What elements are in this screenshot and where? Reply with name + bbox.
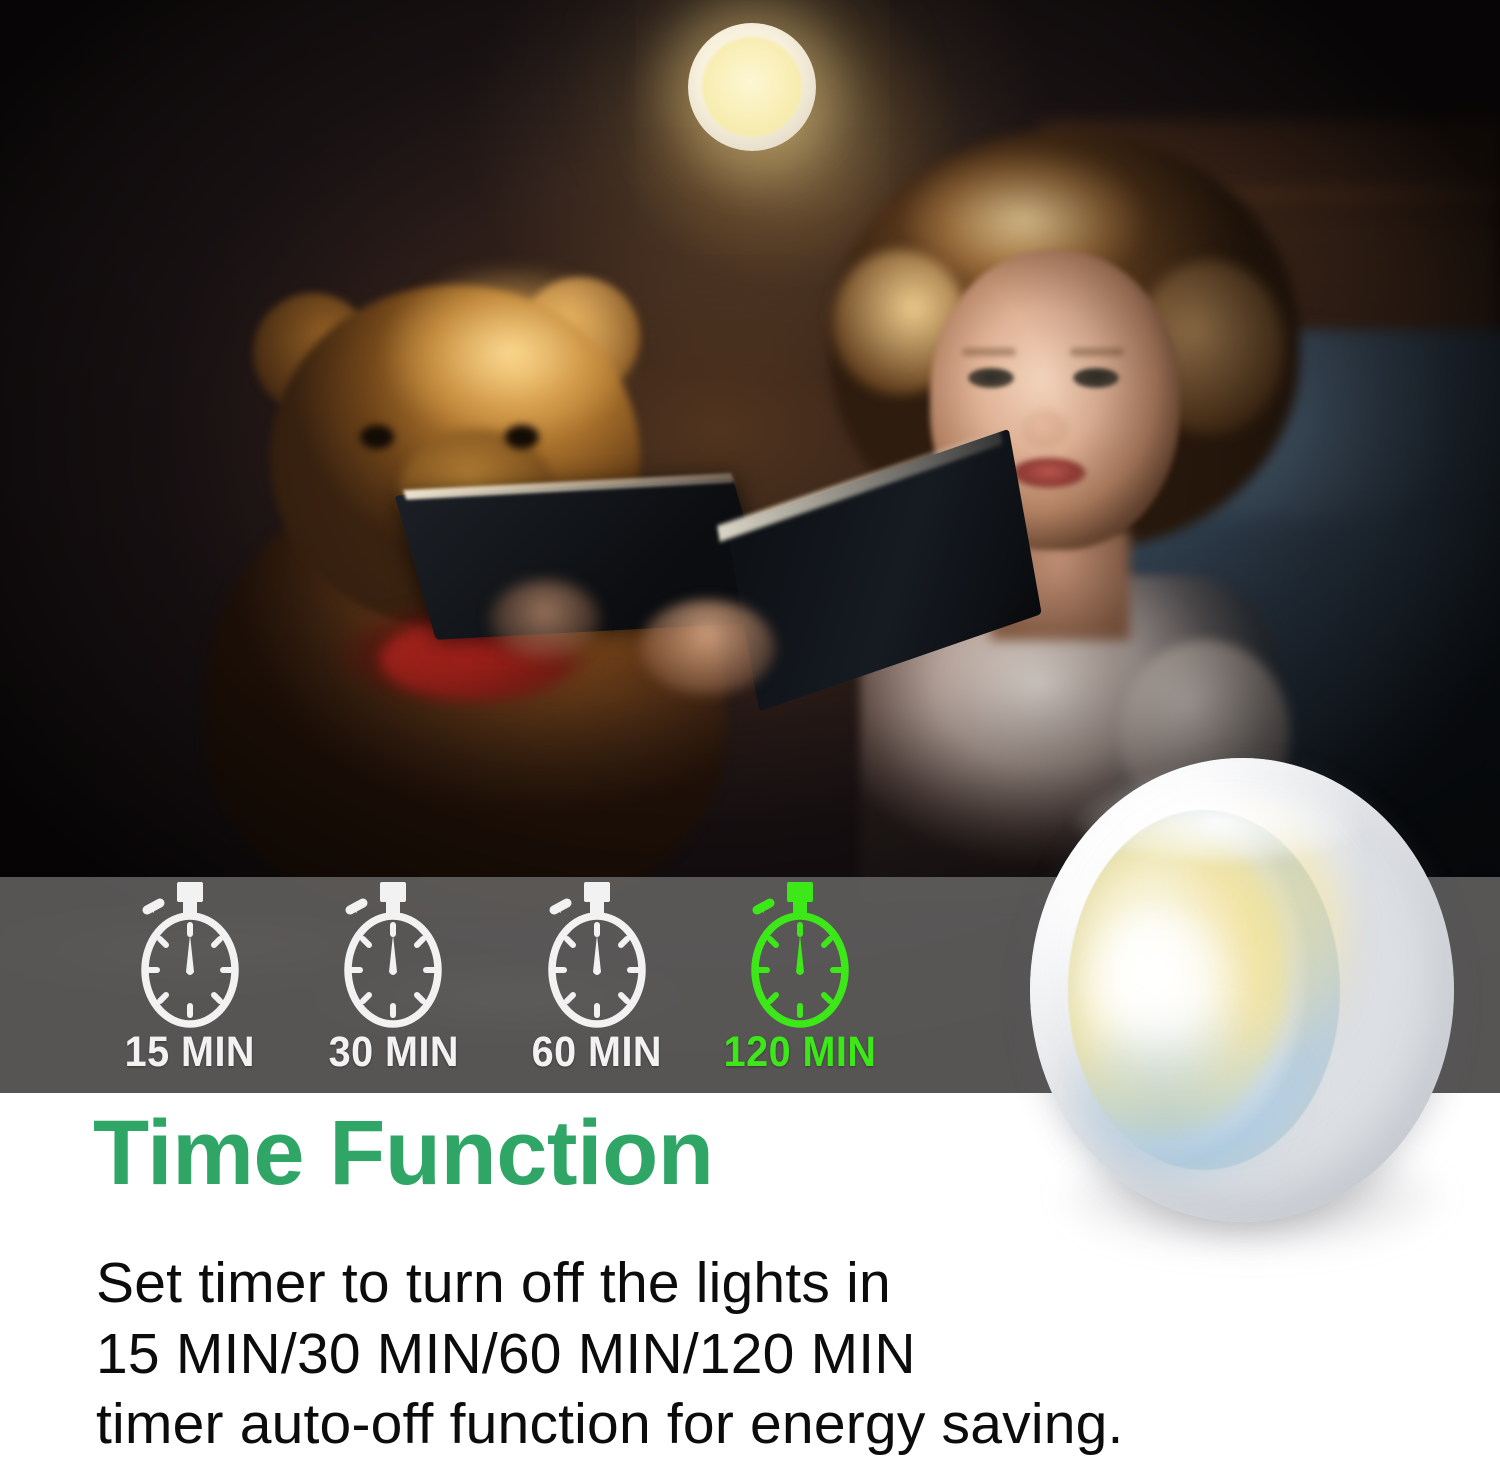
- product-lens-hotspot: [1088, 908, 1238, 1058]
- teddy-bear-left-eye: [360, 425, 394, 449]
- product-puck-light: [1022, 752, 1462, 1232]
- timer-option-120min[interactable]: 120 MIN: [710, 877, 890, 1074]
- description-line-2: 15 MIN/30 MIN/60 MIN/120 MIN: [96, 1319, 1096, 1390]
- stopwatch-icon: [129, 877, 251, 1029]
- wall-mounted-puck-light: [688, 23, 816, 151]
- description-text: Set timer to turn off the lights in 15 M…: [96, 1248, 1096, 1460]
- product-white-housing: [1030, 758, 1454, 1222]
- timer-label: 60 MIN: [532, 1031, 662, 1074]
- page-title: Time Function: [93, 1107, 713, 1199]
- timer-label: 120 MIN: [724, 1031, 877, 1074]
- description-line-1: Set timer to turn off the lights in: [96, 1248, 1096, 1319]
- child-right-eyebrow: [1070, 348, 1124, 356]
- stopwatch-icon: [332, 877, 454, 1029]
- child-left-eye: [968, 368, 1014, 388]
- timer-option-60min[interactable]: 60 MIN: [507, 877, 687, 1074]
- timer-options-row: 15 MIN: [100, 877, 890, 1093]
- wall-puck-light-lens: [702, 37, 802, 137]
- stopwatch-icon: [739, 877, 861, 1029]
- child-left-hand: [490, 580, 600, 660]
- teddy-bear-right-eye: [505, 425, 539, 449]
- child-mouth: [1012, 458, 1086, 488]
- child-right-hand: [640, 600, 775, 695]
- description-line-3: timer auto-off function for energy savin…: [96, 1389, 1096, 1460]
- timer-option-30min[interactable]: 30 MIN: [303, 877, 483, 1074]
- stopwatch-icon: [536, 877, 658, 1029]
- product-rim-highlight: [1070, 770, 1370, 860]
- child-right-eye: [1073, 368, 1119, 388]
- timer-label: 15 MIN: [125, 1031, 255, 1074]
- product-feature-card: 15 MIN: [0, 0, 1500, 1446]
- timer-option-15min[interactable]: 15 MIN: [100, 877, 280, 1074]
- child-nose: [1022, 410, 1068, 448]
- child-left-eyebrow: [962, 348, 1016, 356]
- timer-label: 30 MIN: [328, 1031, 458, 1074]
